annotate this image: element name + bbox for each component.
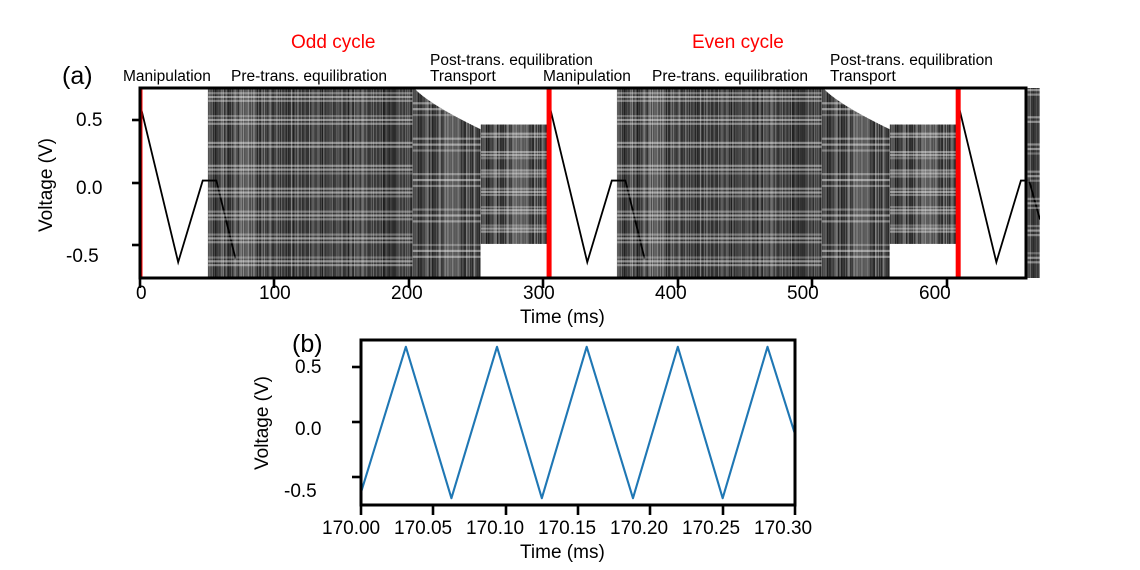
even-cycle-label: Even cycle: [692, 32, 784, 54]
figure-container: (a) Odd cycle Even cycle Manipulation Pr…: [0, 0, 1140, 570]
panel-b-axes: [352, 334, 812, 522]
panel-a-ylabel: Voltage (V): [36, 138, 58, 232]
odd-cycle-label: Odd cycle: [291, 32, 375, 54]
panel-a-ytick-1: 0.0: [76, 178, 102, 200]
panel-a-letter: (a): [62, 62, 93, 91]
panel-a-ytick-2: -0.5: [66, 246, 99, 268]
panel-a-axes: [132, 82, 1052, 292]
panel-a-ytick-0: 0.5: [76, 110, 102, 132]
panel-b-ytick-2: -0.5: [284, 481, 317, 503]
panel-b-letter: (b): [292, 330, 323, 359]
panel-b-ytick-1: 0.0: [295, 419, 321, 441]
panel-b-ylabel: Voltage (V): [252, 376, 274, 470]
panel-b-xlabel: Time (ms): [520, 542, 605, 564]
panel-b-ytick-0: 0.5: [295, 357, 321, 379]
panel-a-xlabel: Time (ms): [520, 307, 605, 329]
